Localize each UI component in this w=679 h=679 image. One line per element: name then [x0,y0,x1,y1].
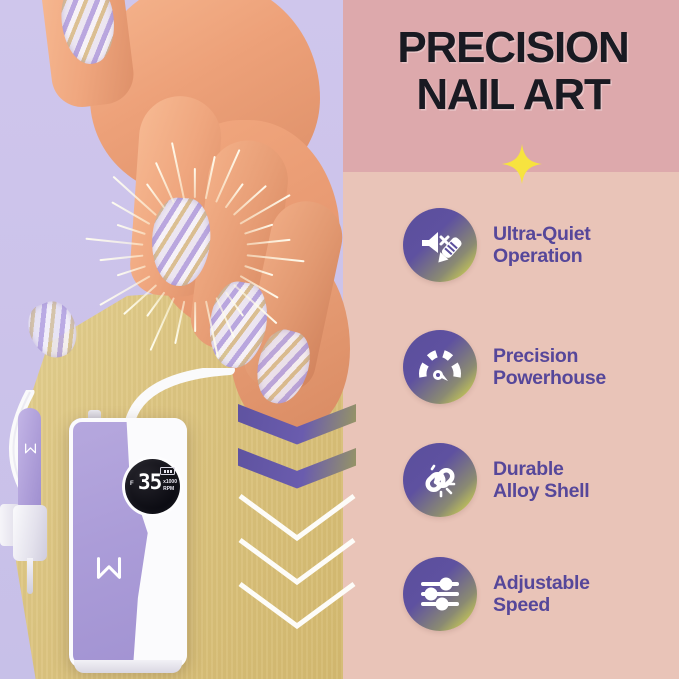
display-value: 35 [138,472,161,493]
mute-speaker-drill-icon [403,208,477,282]
chain-link-icon [403,443,477,517]
speedometer-gauge-icon [403,330,477,404]
feature-label-0: Ultra-QuietOperation [493,223,590,267]
device-base [74,660,182,673]
page-title: PRECISION NAIL ART [362,24,664,118]
nail-drill-device: F 35 x1000 RPM [69,418,187,668]
display-unit: x1000 RPM [163,479,177,493]
nail-pinky [21,295,85,364]
sliders-icon [403,557,477,631]
battery-icon [160,467,175,475]
product-infographic: F 35 x1000 RPM PRECISION NAIL ART [0,0,679,679]
feature-item-1[interactable]: PrecisionPowerhouse [403,330,606,404]
sparkle-star-icon [502,144,542,184]
chevron-outline-3 [238,580,356,632]
title-line-1: PRECISION [362,24,664,71]
device-shell [69,418,187,668]
feature-label-2: DurableAlloy Shell [493,458,589,502]
device-display[interactable]: F 35 x1000 RPM [125,459,180,514]
feature-label-1: PrecisionPowerhouse [493,345,606,389]
feature-label-3: AdjustableSpeed [493,572,590,616]
feature-item-3[interactable]: AdjustableSpeed [403,557,590,631]
sparkle-rays-icon [95,150,295,350]
m-monogram-logo [24,442,37,455]
m-monogram-logo [93,554,125,582]
feature-item-0[interactable]: Ultra-QuietOperation [403,208,590,282]
title-line-2: NAIL ART [362,71,664,118]
feature-item-2[interactable]: DurableAlloy Shell [403,443,589,517]
display-prefix: F [130,481,134,487]
